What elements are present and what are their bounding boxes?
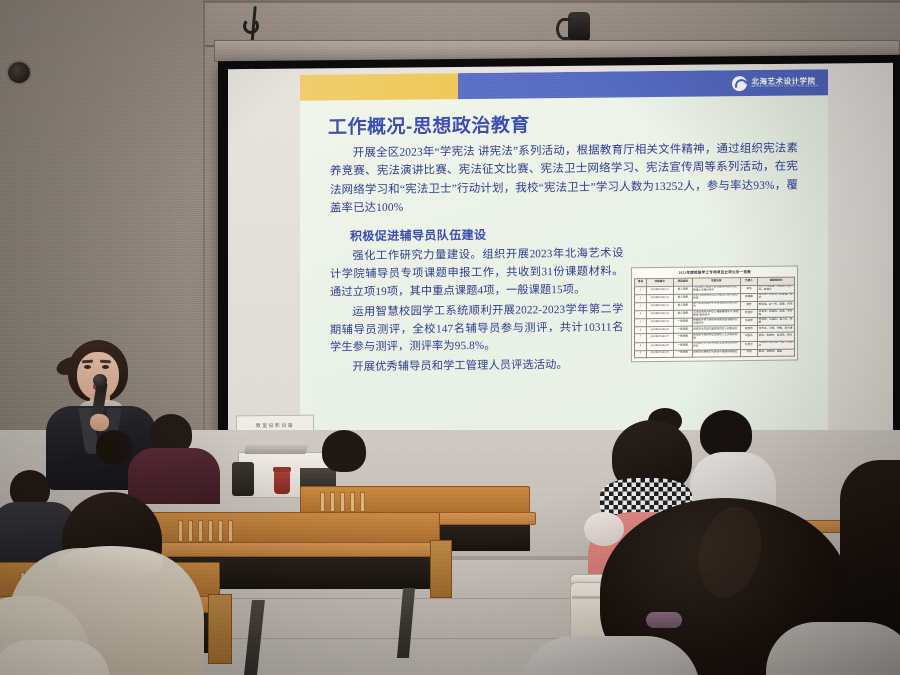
- bench-side-panel: [430, 540, 452, 598]
- mini-table-cell: 1: [635, 286, 646, 294]
- mini-table-cell: 高校学生宿舍文化建设与管理创新路径: [692, 349, 740, 357]
- slide-paragraph-1: 开展全区2023年“学宪法 讲宪法”系列活动，根据教育厅相关文件精神，通过组织宪…: [330, 140, 798, 219]
- mini-table-cell: 一般课题: [673, 318, 692, 326]
- university-logo: 北海艺术设计学院 BEIHAI UNIVERSITY OF ART AND DE…: [732, 72, 818, 93]
- mini-table-cell: 陈国华: [740, 309, 758, 317]
- mini-table-cell: 韦丽萍: [740, 318, 758, 326]
- mini-table-cell: 2023BHYSXG08: [646, 342, 673, 350]
- mini-table-cell: 2023BHYSXG04: [646, 310, 673, 318]
- lectern-equipment: [244, 444, 308, 454]
- attendee-fur-trim: [584, 512, 624, 546]
- mini-table-cell: 2023BHYSXG02: [646, 294, 673, 302]
- wall-placard-text: 教室投影设备: [256, 422, 294, 429]
- slide-mini-table: 2023年度校级学工专项项目立项公示一览表 序号项目编号项目类别项目名称负责人课…: [631, 265, 798, 362]
- cable-hook-icon: [243, 18, 259, 34]
- mini-table-cell: 重点课题: [673, 286, 692, 294]
- red-cup: [274, 470, 290, 494]
- mini-table-cell: 重点课题: [673, 310, 692, 318]
- mini-table-cell: 重点课题: [673, 294, 692, 302]
- attendee-body: [128, 448, 220, 504]
- mini-table-cell: 一般课题: [673, 334, 692, 342]
- mini-table-cell: 2023BHYSXG07: [646, 334, 673, 342]
- mini-table-cell: 2023BHYSXG05: [646, 318, 673, 326]
- mini-table-cell: 农丽: [740, 349, 758, 356]
- bench-slats: [178, 520, 233, 542]
- bench-slats: [320, 492, 365, 512]
- wall-seam: [205, 0, 900, 3]
- logo-swirl-icon: [732, 76, 747, 91]
- mini-table-cell: 2023BHYSXG01: [646, 286, 673, 294]
- slide-paragraph-3: 运用智慧校园学工系统顺利开展2022-2023学年第二学期辅导员测评，全校147…: [330, 301, 623, 358]
- mini-table-row: 92023BHYSXG09一般课题高校学生宿舍文化建设与管理创新路径农丽黎明、黄…: [635, 349, 795, 358]
- attendee-head: [96, 430, 132, 464]
- lecture-hall-screenshot: 北海艺术设计学院 BEIHAI UNIVERSITY OF ART AND DE…: [0, 0, 900, 675]
- mini-table-cell: 2023BHYSXG03: [646, 302, 673, 310]
- microphone-head-icon: [93, 374, 107, 387]
- slide-paragraph-4: 开展优秀辅导员和学工管理人员评选活动。: [330, 357, 623, 378]
- slide-gold-accent: [300, 73, 458, 101]
- slide-title: 工作概况-思想政治教育: [328, 110, 530, 139]
- attendee-head: [322, 430, 366, 472]
- slide-subheading: 积极促进辅导员队伍建设: [350, 222, 798, 244]
- mini-table-grid: 序号项目编号项目类别项目名称负责人课题组成员 12023BHYSXG01重点课题…: [634, 277, 795, 358]
- mini-table-cell: 2: [635, 294, 646, 302]
- mini-table-cell: 重点课题: [673, 302, 692, 310]
- presentation-slide: 北海艺术设计学院 BEIHAI UNIVERSITY OF ART AND DE…: [300, 69, 828, 457]
- slide-paragraph-2: 强化工作研究力量建设。组织开展2023年北海艺术设计学院辅导员专项课题申报工作，…: [330, 245, 623, 302]
- mini-table-cell: 8: [635, 342, 646, 350]
- mini-table-cell: 黎明、黄雅婷、唐磊: [758, 349, 795, 357]
- presenter-eye-right: [102, 365, 109, 369]
- mini-table-cell: 2023BHYSXG09: [646, 350, 673, 357]
- mini-table-cell: 4: [635, 311, 646, 319]
- mini-table-cell: 3: [635, 302, 646, 310]
- mini-table-cell: 胡俊杰: [740, 333, 758, 341]
- bench-desktop: [146, 542, 446, 557]
- hair-tie: [646, 612, 682, 628]
- mini-table-cell: 一般课题: [673, 342, 692, 350]
- mini-table-cell: 黄晓敏: [740, 293, 758, 301]
- mini-table-cell: 李强: [740, 285, 758, 293]
- mini-table-cell: 一般课题: [673, 350, 692, 357]
- bench-side-panel: [208, 594, 232, 664]
- mini-table-cell: 谭芳: [740, 301, 758, 309]
- presenter-eye-left: [84, 365, 91, 369]
- attendee-collar: [58, 546, 164, 580]
- wall-speaker-icon: [8, 62, 30, 83]
- ceiling-mount-icon: [556, 18, 572, 40]
- mini-table-cell: 9: [635, 350, 646, 357]
- red-cup-lid: [273, 467, 291, 472]
- mini-table-cell: 阮秀兰: [740, 341, 758, 349]
- attendee-head: [700, 410, 752, 458]
- mini-table-cell: 5: [635, 319, 646, 327]
- logo-name-en: BEIHAI UNIVERSITY OF ART AND DESIGN: [751, 85, 818, 88]
- bag: [232, 462, 254, 496]
- slide-body: 开展全区2023年“学宪法 讲宪法”系列活动，根据教育厅相关文件精神，通过组织宪…: [330, 140, 798, 380]
- mini-table-cell: 7: [635, 334, 646, 342]
